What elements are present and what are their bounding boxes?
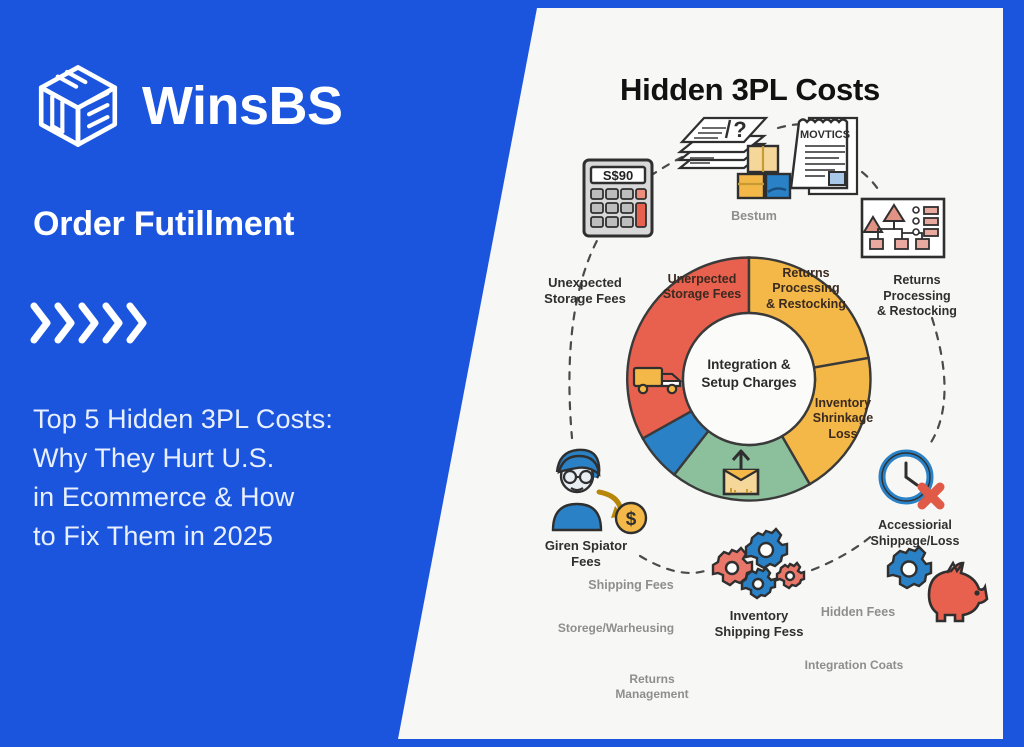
callout-unexpected-storage-fees: UnexpectedStorage Fees [530, 275, 640, 308]
svg-text:?: ? [733, 117, 746, 142]
delivery-truck-icon [632, 362, 684, 396]
callout-integration-coats: Integration Coats [792, 658, 916, 673]
callout-shipping-fees: Shipping Fees [572, 578, 690, 594]
page-subtitle: Order Futillment [33, 205, 294, 244]
donut-label-unexpected-storage-fees: UnerpectedStorage Fees [650, 272, 754, 303]
slide-canvas: WinsBS Order Futillment Top 5 Hidden 3PL… [0, 0, 1024, 747]
clock-with-x-icon [875, 447, 947, 515]
donut-center-label: Integration &Setup Charges [686, 356, 812, 392]
callout-inventory-shipping-fess: InventoryShipping Fess [700, 608, 818, 641]
chevron-4 [102, 300, 124, 346]
callout-hidden-fees: Hidden Fees [810, 605, 906, 621]
person-paying-money-icon: $ [543, 444, 651, 534]
warning-flowchart-icon [860, 197, 946, 259]
gears-cluster-icon [708, 528, 808, 604]
brand-lockup: WinsBS [32, 60, 343, 152]
chevron-3 [78, 300, 100, 346]
callout-accessiorial-shippage-loss: AccessiorialShippage/Loss [855, 518, 975, 549]
headline-line-4: to Fix Them in 2025 [33, 517, 453, 556]
callout-returns-processing-restocking: ReturnsProcessing& Restocking [862, 273, 972, 320]
donut-label-returns-processing: ReturnsProcessing& Restocking [754, 266, 858, 312]
chevron-2 [54, 300, 76, 346]
invoice-document-icon: MOVTICS [795, 112, 861, 198]
left-blue-panel: WinsBS Order Futillment Top 5 Hidden 3PL… [0, 0, 470, 747]
chart-title: Hidden 3PL Costs [600, 72, 900, 108]
svg-text:$: $ [626, 509, 637, 530]
brand-name: WinsBS [142, 79, 343, 133]
box-cube-logo-icon [32, 60, 124, 152]
calculator-icon: S$90 [582, 158, 654, 238]
invoice-heading: MOVTICS [800, 129, 850, 141]
chevron-1 [30, 300, 52, 346]
callout-returns-management: ReturnsManagement [600, 672, 704, 702]
package-with-up-arrow-icon [718, 450, 764, 498]
stacked-boxes-icon [736, 142, 792, 204]
calculator-display-value: S$90 [603, 168, 633, 183]
callout-storage-warehousing: Storege/Warheusing [546, 621, 686, 636]
chevrons-right-icon [30, 300, 148, 346]
donut-label-inventory-shrinkage-loss: InventoryShrinkageLoss [798, 396, 888, 442]
headline-line-2: Why They Hurt U.S. [33, 439, 453, 478]
headline-line-3: in Ecommerce & How [33, 478, 453, 517]
callout-giren-spiator-fees: Giren SpiatorFees [528, 538, 644, 571]
headline-line-1: Top 5 Hidden 3PL Costs: [33, 400, 453, 439]
headline-text: Top 5 Hidden 3PL Costs: Why They Hurt U.… [33, 400, 453, 557]
chevron-5 [126, 300, 148, 346]
callout-bestum: Bestum [704, 209, 804, 225]
